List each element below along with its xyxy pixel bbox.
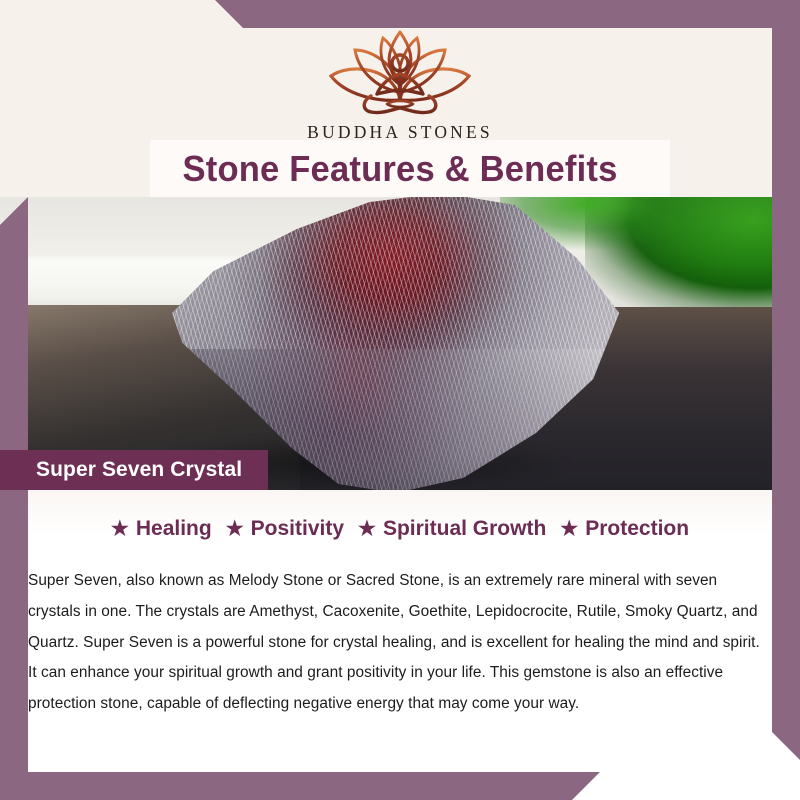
stone-name-label: Super Seven Crystal: [36, 458, 242, 482]
star-icon: ★: [358, 519, 376, 539]
benefit-label: Spiritual Growth: [383, 517, 546, 541]
benefit-label: Positivity: [251, 517, 344, 541]
star-icon: ★: [111, 519, 129, 539]
benefits-list: ★ Healing ★ Positivity ★ Spiritual Growt…: [0, 517, 800, 541]
benefit-item-spiritual-growth: ★ Spiritual Growth: [358, 517, 546, 541]
frame-right-bar: [772, 0, 800, 800]
benefit-item-protection: ★ Protection: [560, 517, 689, 541]
page-title: Stone Features & Benefits: [16, 140, 784, 197]
stone-description: Super Seven, also known as Melody Stone …: [28, 566, 772, 720]
brand-logo: BUDDHA STONES: [0, 22, 800, 143]
stone-infographic: BUDDHA STONES Stone Features & Benefits …: [0, 0, 800, 800]
stone-photo: [0, 197, 800, 490]
benefit-label: Protection: [585, 517, 689, 541]
stone-name-banner: Super Seven Crystal: [0, 450, 268, 490]
frame-bottom-bar: [0, 772, 800, 800]
benefit-label: Healing: [136, 517, 212, 541]
lotus-meditation-icon: [315, 22, 485, 118]
star-icon: ★: [226, 519, 244, 539]
benefit-item-healing: ★ Healing: [111, 517, 212, 541]
benefit-item-positivity: ★ Positivity: [226, 517, 344, 541]
star-icon: ★: [560, 519, 578, 539]
